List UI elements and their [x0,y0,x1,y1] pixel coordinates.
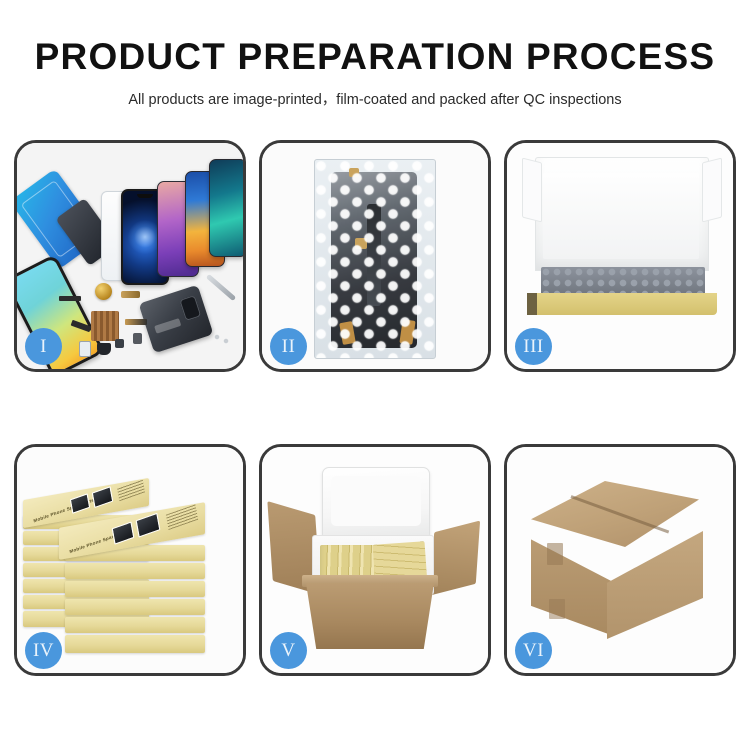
stack-box-window-left-2 [92,486,113,508]
bubble-highlight-layer [315,160,435,358]
sealed-carton-tape-patch-top [547,543,563,565]
process-steps-grid: I II [14,140,736,676]
step-badge-4: IV [25,632,62,669]
sim-tray-part [79,341,91,357]
yellow-box-front-panel [527,293,717,315]
flex-cable-1 [59,296,81,301]
phone-back-housing [138,285,213,354]
foam-lid [322,467,430,541]
phone-teal-display [209,159,243,257]
screws-group [213,333,233,345]
step-badge-1: I [25,328,62,365]
small-connector-2 [133,333,142,344]
process-step-panel-1: I [14,140,246,372]
stack-box-text-left [117,479,145,501]
step-badge-2: II [270,328,307,365]
process-step-panel-3: III [504,140,736,372]
chip-array [91,311,119,341]
stack-box-right-3 [65,581,205,597]
sealed-carton-right-face [607,531,703,639]
step-badge-3: III [515,328,552,365]
stack-box-right-5 [65,617,205,633]
step-badge-5: V [270,632,307,669]
page-title: PRODUCT PREPARATION PROCESS [0,38,750,77]
screwdriver-tool [206,274,236,301]
stack-box-window-right-1 [112,522,135,545]
page-header: PRODUCT PREPARATION PROCESS All products… [0,0,750,109]
small-connector-1 [115,339,124,348]
taptic-engine-part [97,343,111,355]
stack-box-right-6 [65,635,205,653]
stack-box-right-2 [65,563,205,579]
stack-box-window-left-1 [70,493,90,514]
process-step-panel-4: Mobile Phone Spare Parts Mobile Phone Sp… [14,444,246,676]
stack-box-window-right-2 [136,513,161,538]
process-step-panel-5: V [259,444,491,676]
sealed-carton-tape-patch-bottom [549,599,565,619]
carton-body [306,583,434,649]
sealed-carton-left-face [531,531,611,635]
stack-box-right-4 [65,599,205,615]
white-foam-sheet [543,173,699,259]
page-subtitle: All products are image-printed，film-coat… [0,88,750,109]
speaker-module [95,283,112,300]
process-step-panel-2: II [259,140,491,372]
process-step-panel-6: VI [504,444,736,676]
flex-cable-2 [121,291,140,298]
stack-box-text-right [166,504,198,530]
flex-cable-4 [125,319,147,325]
step-badge-6: VI [515,632,552,669]
bubble-wrap-bag [314,159,436,359]
